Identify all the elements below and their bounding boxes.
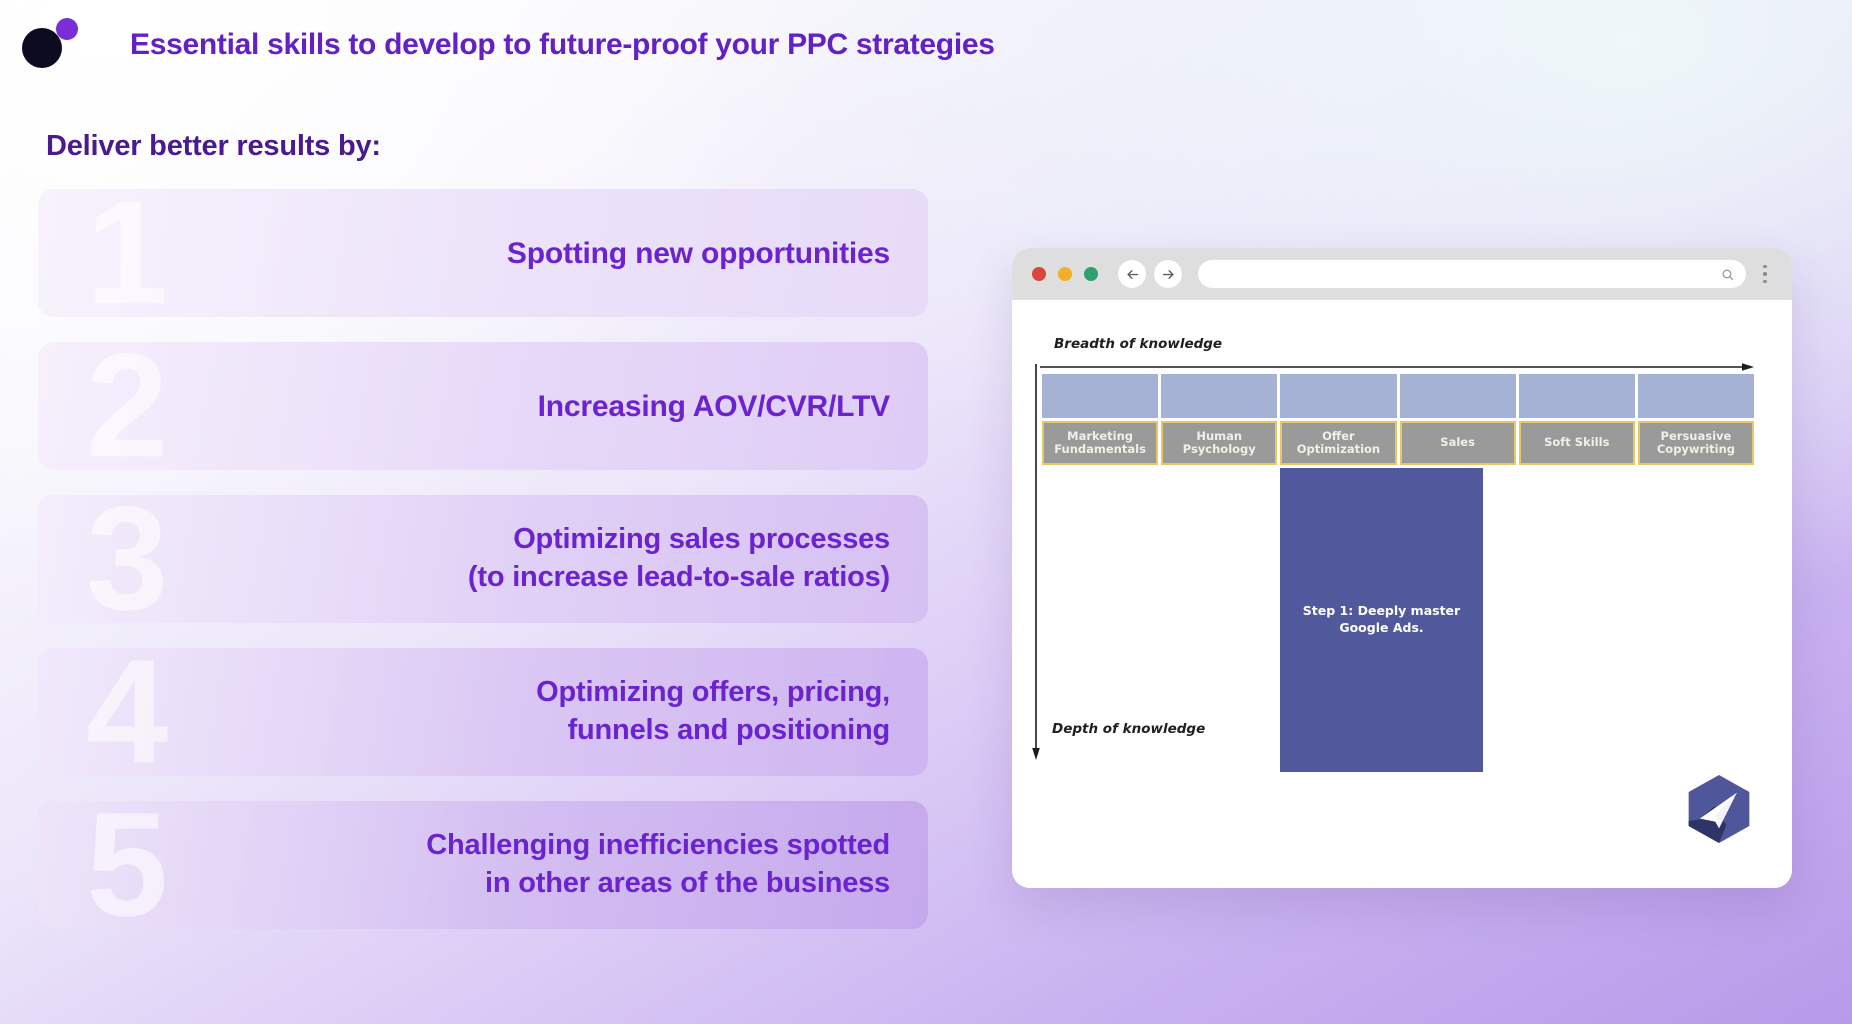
category-label: Sales — [1400, 421, 1516, 465]
list-item-label: Spotting new opportunities — [507, 234, 928, 273]
y-axis-label: Depth of knowledge — [1052, 721, 1205, 737]
category-column[interactable]: Persuasive Copywriting — [1638, 374, 1754, 465]
list-item[interactable]: 2 Increasing AOV/CVR/LTV — [38, 342, 928, 470]
paper-plane-hexagon-logo — [1682, 772, 1756, 846]
window-controls — [1032, 267, 1098, 281]
search-icon[interactable] — [1721, 268, 1734, 281]
benefits-list: 1 Spotting new opportunities 2 Increasin… — [38, 189, 928, 929]
category-header-band — [1042, 374, 1158, 418]
list-item-label: Challenging inefficiencies spotted in ot… — [426, 827, 928, 902]
step-annotation-bar: Step 1: Deeply master Google Ads. — [1280, 468, 1483, 772]
knowledge-matrix-diagram: Breadth of knowledge Depth of knowledge … — [1012, 300, 1792, 888]
close-window-button[interactable] — [1032, 267, 1046, 281]
section-subheading: Deliver better results by: — [46, 130, 960, 163]
category-header-band — [1638, 374, 1754, 418]
x-axis-arrow-icon — [1040, 362, 1754, 372]
left-panel: Deliver better results by: 1 Spotting ne… — [0, 130, 960, 954]
slide-header: Essential skills to develop to future-pr… — [0, 0, 1852, 100]
category-header-band — [1519, 374, 1635, 418]
y-axis-arrow-icon — [1030, 364, 1042, 760]
maximize-window-button[interactable] — [1084, 267, 1098, 281]
browser-toolbar — [1012, 248, 1792, 300]
x-axis-label: Breadth of knowledge — [1054, 336, 1222, 352]
category-header-band — [1400, 374, 1516, 418]
list-item-label: Increasing AOV/CVR/LTV — [538, 387, 928, 426]
back-button[interactable] — [1118, 260, 1146, 288]
category-label: Human Psychology — [1161, 421, 1277, 465]
category-column[interactable]: Offer Optimization — [1280, 374, 1396, 465]
list-item[interactable]: 4 Optimizing offers, pricing, funnels an… — [38, 648, 928, 776]
category-column[interactable]: Marketing Fundamentals — [1042, 374, 1158, 465]
category-columns: Marketing Fundamentals Human Psychology … — [1042, 374, 1754, 465]
category-column[interactable]: Sales — [1400, 374, 1516, 465]
list-item[interactable]: 5 Challenging inefficiencies spotted in … — [38, 801, 928, 929]
category-label: Persuasive Copywriting — [1638, 421, 1754, 465]
list-item[interactable]: 3 Optimizing sales processes (to increas… — [38, 495, 928, 623]
category-label: Soft Skills — [1519, 421, 1635, 465]
list-item[interactable]: 1 Spotting new opportunities — [38, 189, 928, 317]
browser-viewport: Breadth of knowledge Depth of knowledge … — [1012, 300, 1792, 888]
arrow-right-icon — [1161, 267, 1176, 282]
category-header-band — [1280, 374, 1396, 418]
minimize-window-button[interactable] — [1058, 267, 1072, 281]
category-column[interactable]: Soft Skills — [1519, 374, 1635, 465]
category-column[interactable]: Human Psychology — [1161, 374, 1277, 465]
kebab-menu-icon[interactable] — [1752, 259, 1778, 289]
list-item-label: Optimizing sales processes (to increase … — [468, 521, 928, 596]
navigation-buttons — [1118, 260, 1182, 288]
category-header-band — [1161, 374, 1277, 418]
brand-logo — [18, 12, 84, 68]
address-bar[interactable] — [1198, 260, 1746, 288]
category-label: Offer Optimization — [1280, 421, 1396, 465]
category-label: Marketing Fundamentals — [1042, 421, 1158, 465]
arrow-left-icon — [1125, 267, 1140, 282]
forward-button[interactable] — [1154, 260, 1182, 288]
list-item-label: Optimizing offers, pricing, funnels and … — [536, 674, 928, 749]
browser-mockup: Breadth of knowledge Depth of knowledge … — [1012, 248, 1792, 888]
page-title: Essential skills to develop to future-pr… — [130, 28, 995, 62]
logo-large-dot-icon — [22, 28, 62, 68]
logo-small-dot-icon — [56, 18, 78, 40]
